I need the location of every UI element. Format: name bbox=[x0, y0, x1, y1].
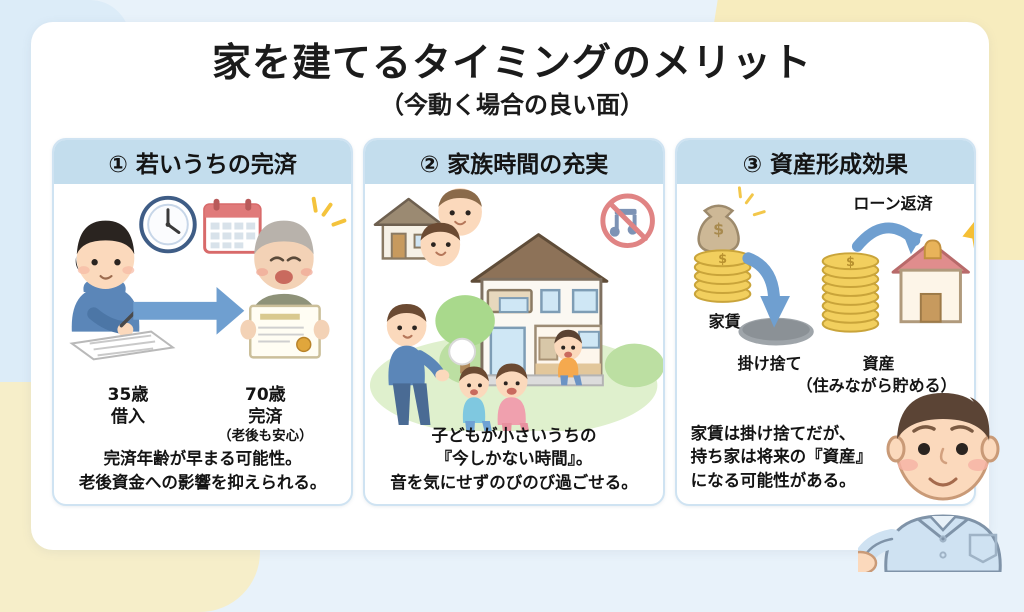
no-noise-icon bbox=[603, 196, 653, 246]
throwaway-label: 掛け捨て bbox=[715, 354, 825, 375]
age-35: 35歳 bbox=[68, 384, 188, 406]
card-1-label-left: 35歳 借入 bbox=[68, 384, 188, 428]
bush-right bbox=[605, 344, 662, 388]
benefit-card-2[interactable]: ② 家族時間の充実 bbox=[363, 138, 664, 506]
benefit-card-1[interactable]: ① 若いうちの完済 bbox=[52, 138, 353, 506]
card-2-caption-line-3: 音を気にせずのびのび過ごせる。 bbox=[371, 471, 656, 494]
rent-coin-stack: $ bbox=[694, 250, 750, 302]
card-2-header: ② 家族時間の充実 bbox=[365, 140, 662, 184]
card-1-label-right: 70歳 完済 （老後も安心） bbox=[185, 384, 345, 446]
card-2-caption-line-1: 子どもが小さいうちの bbox=[371, 424, 656, 447]
presenter-character bbox=[858, 387, 1024, 572]
clock-icon bbox=[141, 198, 195, 252]
svg-text:$: $ bbox=[846, 255, 855, 270]
rent-label: 家賃 bbox=[685, 312, 765, 333]
progress-arrow-icon bbox=[133, 287, 244, 335]
sparkle-icon-bag bbox=[739, 188, 764, 215]
page-title: 家を建てるタイミングのメリット bbox=[0, 32, 1024, 88]
calendar-icon bbox=[205, 199, 261, 253]
money-bag-icon: $ bbox=[698, 206, 738, 253]
borrow-label: 借入 bbox=[68, 406, 188, 428]
loan-repayment-arrow-icon bbox=[857, 228, 922, 254]
presenter-eye-right bbox=[956, 443, 968, 455]
card-1-header: ① 若いうちの完済 bbox=[54, 140, 351, 184]
peace-of-mind-note: （老後も安心） bbox=[185, 428, 345, 446]
asset-house-icon bbox=[893, 240, 968, 321]
svg-text:$: $ bbox=[713, 219, 724, 238]
card-3-header: ③ 資産形成効果 bbox=[677, 140, 974, 184]
asset-label: 資産 bbox=[819, 354, 939, 375]
card-2-caption-line-2: 『今しかない時間』。 bbox=[371, 447, 656, 470]
asset-coin-stack: $ bbox=[822, 253, 878, 331]
card-1-labels: 35歳 借入 70歳 完済 （老後も安心） bbox=[54, 384, 351, 456]
card-1-caption-line-1: 完済年齢が早まる可能性。 bbox=[60, 447, 345, 470]
loan-repayment-label: ローン返済 bbox=[818, 194, 968, 215]
sparkle-icon bbox=[314, 199, 345, 225]
card-2-illustration bbox=[365, 186, 662, 431]
card-2-body: 子どもが小さいうちの 『今しかない時間』。 音を気にせずのびのび過ごせる。 bbox=[365, 184, 662, 504]
card-1-caption-line-2: 老後資金への影響を抑えられる。 bbox=[60, 471, 345, 494]
card-1-header-label: ① 若いうちの完済 bbox=[108, 145, 296, 179]
card-2-header-label: ② 家族時間の充実 bbox=[420, 145, 608, 179]
card-1-illustration bbox=[54, 184, 351, 389]
benefit-card-list: ① 若いうちの完済 bbox=[52, 138, 976, 506]
ball bbox=[450, 339, 476, 365]
svg-text:$: $ bbox=[718, 252, 727, 267]
main-house bbox=[472, 235, 607, 386]
card-2-caption: 子どもが小さいうちの 『今しかない時間』。 音を気にせずのびのび過ごせる。 bbox=[371, 424, 656, 494]
card-3-header-label: ③ 資産形成効果 bbox=[743, 145, 908, 179]
age-70: 70歳 bbox=[185, 384, 345, 406]
payoff-label: 完済 bbox=[185, 406, 345, 428]
card-1-caption: 完済年齢が早まる可能性。 老後資金への影響を抑えられる。 bbox=[60, 447, 345, 494]
card-1-body: 35歳 借入 70歳 完済 （老後も安心） 完済年齢が早まる可能性。 老後資金へ… bbox=[54, 184, 351, 504]
growth-flash-icon bbox=[962, 217, 974, 251]
presenter-eye-left bbox=[918, 443, 930, 455]
family-face-icons bbox=[421, 188, 482, 266]
page-subtitle: （今動く場合の良い面） bbox=[0, 85, 1024, 120]
